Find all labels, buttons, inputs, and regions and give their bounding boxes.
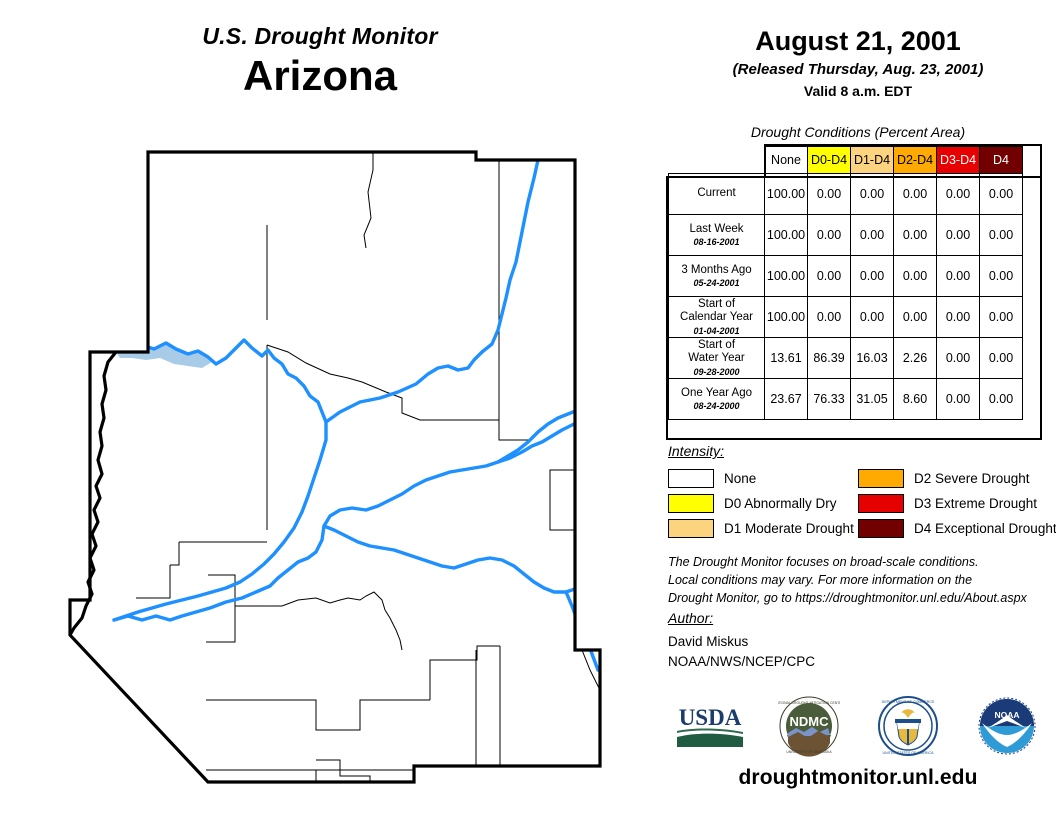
cell-none: 100.00 <box>765 256 808 297</box>
table-row: Last Week08-16-2001100.000.000.000.000.0… <box>669 215 1023 256</box>
legend-swatch <box>668 519 714 538</box>
note-line-1: The Drought Monitor focuses on broad-sca… <box>668 553 1056 571</box>
cell-d2-d4: 8.60 <box>894 379 937 420</box>
svg-text:USDA: USDA <box>678 705 741 730</box>
cell-d0-d4: 0.00 <box>808 215 851 256</box>
cell-none: 100.00 <box>765 215 808 256</box>
report-valid: Valid 8 a.m. EDT <box>660 83 1056 99</box>
partner-logos: USDA NDMC NATIONAL DROUGHT MITIGATION CE… <box>660 690 1056 762</box>
table-header-row: NoneD0-D4D1-D4D2-D4D3-D4D4 <box>669 147 1023 174</box>
report-date: August 21, 2001 <box>660 26 1056 57</box>
cell-d4: 0.00 <box>980 215 1023 256</box>
row-label: One Year Ago08-24-2000 <box>669 379 765 420</box>
noaa-logo: NOAA <box>969 690 1045 762</box>
legend-label: D3 Extreme Drought <box>914 496 1037 511</box>
table-row: Start ofCalendar Year01-04-2001100.000.0… <box>669 297 1023 338</box>
table-body: Current100.000.000.000.000.000.00Last We… <box>669 174 1023 420</box>
commerce-seal: DEPARTMENT OF COMMERCE UNITED STATES OF … <box>870 690 946 762</box>
cell-d3-d4: 0.00 <box>937 338 980 379</box>
legend-row: D1 Moderate DroughtD4 Exceptional Drough… <box>668 516 1048 541</box>
cell-d3-d4: 0.00 <box>937 256 980 297</box>
cell-d3-d4: 0.00 <box>937 215 980 256</box>
cell-none: 100.00 <box>765 174 808 215</box>
table-row: Start ofWater Year09-28-200013.6186.3916… <box>669 338 1023 379</box>
website-url: droughtmonitor.unl.edu <box>660 766 1056 790</box>
author-block: David Miskus NOAA/NWS/NCEP/CPC <box>668 632 815 671</box>
cell-d3-d4: 0.00 <box>937 174 980 215</box>
cell-d4: 0.00 <box>980 256 1023 297</box>
svg-text:UNITED STATES OF AMERICA: UNITED STATES OF AMERICA <box>882 751 934 755</box>
cell-d3-d4: 0.00 <box>937 379 980 420</box>
svg-text:NATIONAL DROUGHT MITIGATION CE: NATIONAL DROUGHT MITIGATION CENTER <box>778 701 840 705</box>
row-date: 08-16-2001 <box>669 237 764 247</box>
svg-text:UNIVERSITY OF NEBRASKA: UNIVERSITY OF NEBRASKA <box>786 750 832 754</box>
legend-label: D1 Moderate Drought <box>724 521 854 536</box>
note-line-3: Drought Monitor, go to https://droughtmo… <box>668 589 1056 607</box>
cell-d4: 0.00 <box>980 379 1023 420</box>
cell-d2-d4: 0.00 <box>894 297 937 338</box>
cell-d1-d4: 31.05 <box>851 379 894 420</box>
legend-item: None <box>668 469 858 488</box>
map-title-block: U.S. Drought Monitor Arizona <box>0 24 640 99</box>
legend-item: D1 Moderate Drought <box>668 519 858 538</box>
drought-conditions-table: NoneD0-D4D1-D4D2-D4D3-D4D4 Current100.00… <box>668 146 1023 420</box>
author-title: Author: <box>668 610 713 626</box>
cell-d4: 0.00 <box>980 338 1023 379</box>
note-line-2: Local conditions may vary. For more info… <box>668 571 1056 589</box>
legend-swatch <box>858 519 904 538</box>
legend-item: D4 Exceptional Drought <box>858 519 1048 538</box>
report-released: (Released Thursday, Aug. 23, 2001) <box>660 61 1056 78</box>
table-corner-cell <box>669 147 765 174</box>
row-date: 09-28-2000 <box>669 367 764 377</box>
svg-text:NDMC: NDMC <box>789 714 829 729</box>
cell-d0-d4: 0.00 <box>808 256 851 297</box>
cell-d2-d4: 0.00 <box>894 174 937 215</box>
cell-d4: 0.00 <box>980 297 1023 338</box>
disclaimer-note: The Drought Monitor focuses on broad-sca… <box>668 553 1056 607</box>
cell-none: 13.61 <box>765 338 808 379</box>
row-label: Start ofCalendar Year01-04-2001 <box>669 297 765 338</box>
author-agency: NOAA/NWS/NCEP/CPC <box>668 652 815 672</box>
intensity-title: Intensity: <box>668 443 724 459</box>
svg-text:DEPARTMENT OF COMMERCE: DEPARTMENT OF COMMERCE <box>881 700 934 704</box>
legend-label: D0 Abnormally Dry <box>724 496 837 511</box>
cell-d4: 0.00 <box>980 174 1023 215</box>
row-date: 01-04-2001 <box>669 326 764 336</box>
cell-d0-d4: 0.00 <box>808 174 851 215</box>
row-date: 05-24-2001 <box>669 278 764 288</box>
row-label: Last Week08-16-2001 <box>669 215 765 256</box>
row-label: Current <box>669 174 765 215</box>
legend-row: D0 Abnormally DryD3 Extreme Drought <box>668 491 1048 516</box>
usda-logo: USDA <box>672 690 748 762</box>
row-label: Start ofWater Year09-28-2000 <box>669 338 765 379</box>
legend-item: D0 Abnormally Dry <box>668 494 858 513</box>
ndmc-logo: NDMC NATIONAL DROUGHT MITIGATION CENTER … <box>771 690 847 762</box>
row-date: 08-24-2000 <box>669 401 764 411</box>
legend-label: None <box>724 471 756 486</box>
cell-d1-d4: 16.03 <box>851 338 894 379</box>
svg-text:NOAA: NOAA <box>994 710 1019 720</box>
row-label: 3 Months Ago05-24-2001 <box>669 256 765 297</box>
table-col-header-d1-d4: D1-D4 <box>851 147 894 174</box>
legend-label: D2 Severe Drought <box>914 471 1030 486</box>
legend-label: D4 Exceptional Drought <box>914 521 1056 536</box>
cell-d1-d4: 0.00 <box>851 174 894 215</box>
legend-row: NoneD2 Severe Drought <box>668 466 1048 491</box>
table-row: Current100.000.000.000.000.000.00 <box>669 174 1023 215</box>
cell-d1-d4: 0.00 <box>851 256 894 297</box>
cell-d2-d4: 0.00 <box>894 256 937 297</box>
cell-none: 100.00 <box>765 297 808 338</box>
cell-d0-d4: 86.39 <box>808 338 851 379</box>
cell-d1-d4: 0.00 <box>851 297 894 338</box>
legend-swatch <box>858 469 904 488</box>
legend-item: D2 Severe Drought <box>858 469 1048 488</box>
legend-item: D3 Extreme Drought <box>858 494 1048 513</box>
author-name: David Miskus <box>668 632 815 652</box>
cell-d0-d4: 0.00 <box>808 297 851 338</box>
cell-d2-d4: 0.00 <box>894 215 937 256</box>
table-col-header-d3-d4: D3-D4 <box>937 147 980 174</box>
page-title-small: U.S. Drought Monitor <box>0 24 640 49</box>
table-col-header-none: None <box>765 147 808 174</box>
table-col-header-d2-d4: D2-D4 <box>894 147 937 174</box>
cell-d3-d4: 0.00 <box>937 297 980 338</box>
legend-swatch <box>668 494 714 513</box>
cell-none: 23.67 <box>765 379 808 420</box>
table-col-header-d4: D4 <box>980 147 1023 174</box>
table-row: 3 Months Ago05-24-2001100.000.000.000.00… <box>669 256 1023 297</box>
table-col-header-d0-d4: D0-D4 <box>808 147 851 174</box>
arizona-map <box>30 130 650 790</box>
table-row: One Year Ago08-24-200023.6776.3331.058.6… <box>669 379 1023 420</box>
intensity-legend: NoneD2 Severe DroughtD0 Abnormally DryD3… <box>668 466 1048 541</box>
table-caption: Drought Conditions (Percent Area) <box>660 124 1056 140</box>
legend-swatch <box>858 494 904 513</box>
cell-d2-d4: 2.26 <box>894 338 937 379</box>
cell-d0-d4: 76.33 <box>808 379 851 420</box>
legend-swatch <box>668 469 714 488</box>
report-header: August 21, 2001 (Released Thursday, Aug.… <box>660 26 1056 99</box>
cell-d1-d4: 0.00 <box>851 215 894 256</box>
page-title-state: Arizona <box>0 53 640 99</box>
drought-monitor-page: U.S. Drought Monitor Arizona <box>0 0 1056 816</box>
